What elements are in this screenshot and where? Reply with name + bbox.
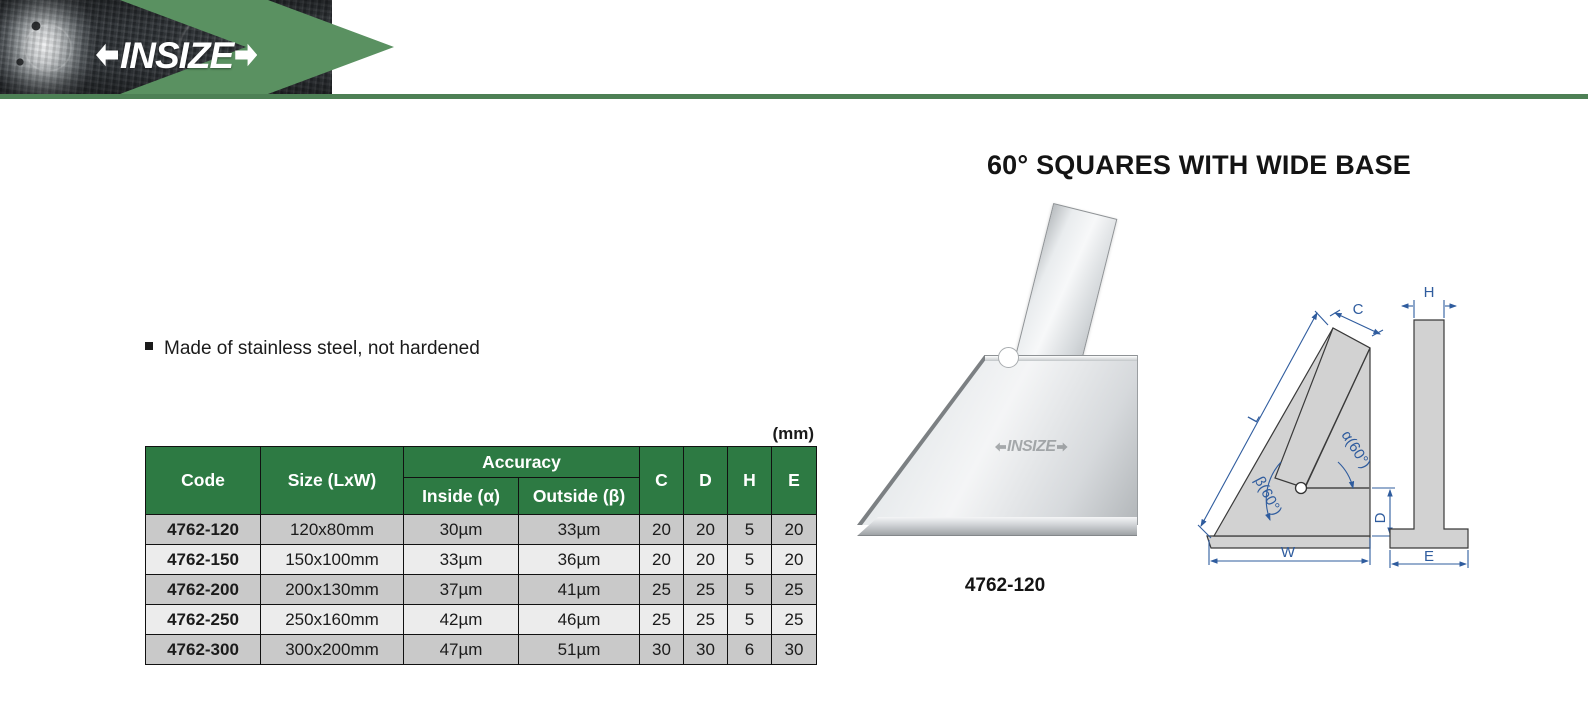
engraving-text: INSIZE (1007, 438, 1056, 456)
unit-label: (mm) (145, 424, 814, 444)
cell-c: 25 (640, 575, 684, 605)
column-header-h: H (728, 447, 772, 515)
table-row: 4762-150 150x100mm 33µm 36µm 20 20 5 20 (146, 545, 817, 575)
drawing-side-view (1390, 320, 1468, 548)
column-header-size: Size (LxW) (261, 447, 404, 515)
cell-h: 5 (728, 575, 772, 605)
product-code-caption: 4762-120 (855, 575, 1155, 597)
cell-e: 30 (772, 635, 817, 665)
product-photo: INSIZE (855, 195, 1155, 565)
cell-inside: 33µm (404, 545, 519, 575)
dimension-label-d: D (1372, 512, 1389, 523)
cell-size: 250x160mm (261, 605, 404, 635)
column-header-accuracy: Accuracy (404, 447, 640, 478)
cell-c: 20 (640, 545, 684, 575)
table-row: 4762-200 200x130mm 37µm 41µm 25 25 5 25 (146, 575, 817, 605)
column-header-outside: Outside (β) (519, 478, 640, 515)
column-header-code: Code (146, 447, 261, 515)
cell-size: 300x200mm (261, 635, 404, 665)
cell-d: 20 (684, 545, 728, 575)
dimension-label-c: C (1353, 301, 1364, 318)
cell-c: 25 (640, 605, 684, 635)
cell-e: 20 (772, 545, 817, 575)
cell-code: 4762-120 (146, 515, 261, 545)
cell-outside: 46µm (519, 605, 640, 635)
left-arrow-icon (96, 41, 118, 69)
cell-outside: 41µm (519, 575, 640, 605)
page-header: INSIZE (0, 0, 1588, 99)
cell-c: 20 (640, 515, 684, 545)
cell-e: 25 (772, 575, 817, 605)
table-row: 4762-300 300x200mm 47µm 51µm 30 30 6 30 (146, 635, 817, 665)
insize-logo[interactable]: INSIZE (96, 33, 257, 77)
feature-text: Made of stainless steel, not hardened (164, 338, 480, 360)
technical-drawing: C L D W α(60°) β(60°) H E (1180, 280, 1480, 570)
cell-e: 25 (772, 605, 817, 635)
cell-d: 20 (684, 515, 728, 545)
square-base (857, 517, 1137, 536)
dimension-label-h: H (1424, 284, 1435, 301)
square-bullet-icon (145, 342, 153, 350)
cell-d: 25 (684, 605, 728, 635)
cell-h: 5 (728, 545, 772, 575)
cell-inside: 42µm (404, 605, 519, 635)
logo-wordmark: INSIZE (120, 37, 233, 74)
cell-d: 30 (684, 635, 728, 665)
drawing-pivot-hole (1296, 483, 1307, 494)
cell-outside: 36µm (519, 545, 640, 575)
cell-code: 4762-200 (146, 575, 261, 605)
dimension-label-e: E (1424, 548, 1434, 565)
cell-size: 200x130mm (261, 575, 404, 605)
table-header-row-1: Code Size (LxW) Accuracy C D H E (146, 447, 817, 478)
cell-size: 150x100mm (261, 545, 404, 575)
column-header-inside: Inside (α) (404, 478, 519, 515)
right-arrow-icon (235, 41, 257, 69)
table-row: 4762-120 120x80mm 30µm 33µm 20 20 5 20 (146, 515, 817, 545)
cell-code: 4762-250 (146, 605, 261, 635)
cell-code: 4762-300 (146, 635, 261, 665)
dimension-label-l: L (1245, 410, 1264, 426)
list-item: Made of stainless steel, not hardened (145, 338, 845, 360)
cell-c: 30 (640, 635, 684, 665)
table-header: Code Size (LxW) Accuracy C D H E Inside … (146, 447, 817, 515)
cell-size: 120x80mm (261, 515, 404, 545)
dimension-label-w: W (1281, 544, 1296, 561)
cell-outside: 51µm (519, 635, 640, 665)
cell-outside: 33µm (519, 515, 640, 545)
column-header-c: C (640, 447, 684, 515)
cell-h: 5 (728, 605, 772, 635)
cell-inside: 37µm (404, 575, 519, 605)
specification-table: Code Size (LxW) Accuracy C D H E Inside … (145, 446, 817, 665)
page-title: 60° SQUARES WITH WIDE BASE (840, 150, 1558, 181)
table-body: 4762-120 120x80mm 30µm 33µm 20 20 5 20 4… (146, 515, 817, 665)
square-relief-hole (998, 347, 1019, 368)
cell-inside: 47µm (404, 635, 519, 665)
cell-d: 25 (684, 575, 728, 605)
column-header-e: E (772, 447, 817, 515)
cell-h: 5 (728, 515, 772, 545)
left-arrow-icon (995, 441, 1006, 453)
column-header-d: D (684, 447, 728, 515)
cell-inside: 30µm (404, 515, 519, 545)
cell-e: 20 (772, 515, 817, 545)
cell-code: 4762-150 (146, 545, 261, 575)
right-arrow-icon (1057, 441, 1068, 453)
feature-list: Made of stainless steel, not hardened (145, 338, 845, 360)
cell-h: 6 (728, 635, 772, 665)
engraved-insize-logo: INSIZE (995, 438, 1068, 456)
header-divider-rule (0, 94, 1588, 99)
table-row: 4762-250 250x160mm 42µm 46µm 25 25 5 25 (146, 605, 817, 635)
